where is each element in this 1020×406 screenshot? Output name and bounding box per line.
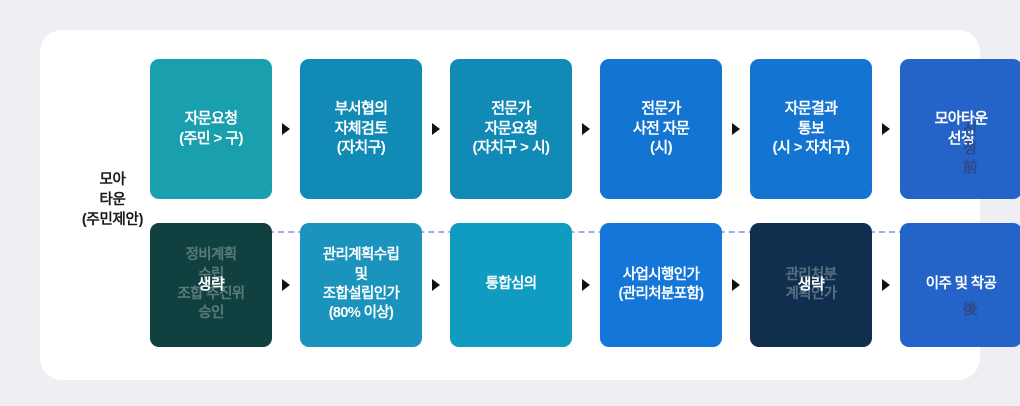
node-expert-advice-request-label-line: 전문가	[473, 99, 550, 119]
stage-label-after-line-1: 後	[963, 301, 978, 318]
flow-arrow-icon	[872, 278, 900, 292]
node-mgmt-disposal-plan-label-line: 계획인가	[786, 285, 837, 304]
flow-arrow-icon	[572, 278, 600, 292]
node-advice-result-notice[interactable]: 자문결과통보(시 > 자치구)	[750, 59, 872, 199]
node-advice-result-notice-label: 자문결과통보(시 > 자치구)	[769, 99, 854, 159]
flow-arrow-icon	[872, 122, 900, 136]
node-advice-request-label-line: (주민 > 구)	[179, 129, 243, 149]
node-expert-advice-request-label-line: (자치구 > 시)	[473, 138, 550, 158]
node-mgmt-plan-union-approval-label-line: 관리계획수립	[323, 246, 399, 265]
node-expert-advice-request[interactable]: 전문가자문요청(자치구 > 시)	[450, 59, 572, 199]
node-expert-preadvice-label-line: 전문가	[633, 99, 689, 119]
stage-label-after: 後	[955, 298, 985, 319]
node-maintenance-plan-label-line: 조합 추진위	[177, 285, 244, 304]
stage-label-before-line-1: 선	[955, 120, 985, 139]
node-advice-request[interactable]: 자문요청(주민 > 구)	[150, 59, 272, 199]
node-expert-preadvice[interactable]: 전문가사전 자문(시)	[600, 59, 722, 199]
node-mgmt-disposal-plan-label-line: 관리처분	[786, 266, 837, 285]
node-maintenance-plan-label: 정비계획수립조합 추진위승인	[173, 246, 248, 323]
node-expert-preadvice-label-line: 사전 자문	[633, 119, 689, 139]
node-project-approval-label: 사업시행인가(관리처분포함)	[615, 266, 708, 305]
node-maintenance-plan-label-line: 정비계획	[177, 246, 244, 265]
node-advice-request-label-line: 자문요청	[179, 109, 243, 129]
diagram-card: 모아 타운 (주민제안) 자문요청(주민 > 구)부서협의자체검토(자치구)전문…	[40, 30, 980, 380]
flow-arrow-icon	[422, 122, 450, 136]
stage-label-before: 선 정 前	[955, 120, 985, 178]
flow-arrow-icon	[572, 122, 600, 136]
stage-label-before-line-3: 前	[955, 158, 985, 177]
node-advice-request-label: 자문요청(주민 > 구)	[175, 109, 247, 149]
node-mgmt-plan-union-approval[interactable]: 관리계획수립및조합설립인가(80% 이상)	[300, 223, 422, 347]
node-dept-review-label-line: (자치구)	[335, 138, 388, 158]
node-maintenance-plan-label-line: 승인	[177, 304, 244, 323]
node-mgmt-plan-union-approval-label-line: (80% 이상)	[323, 304, 399, 323]
node-mgmt-disposal-plan[interactable]: 관리처분계획인가생략	[750, 223, 872, 347]
node-mgmt-plan-union-approval-label: 관리계획수립및조합설립인가(80% 이상)	[319, 246, 403, 323]
node-project-approval-label-line: 사업시행인가	[619, 266, 704, 285]
node-advice-result-notice-label-line: (시 > 자치구)	[773, 138, 850, 158]
node-dept-review-label: 부서협의자체검토(자치구)	[331, 99, 392, 159]
node-dept-review-label-line: 부서협의	[335, 99, 388, 119]
node-expert-advice-request-label: 전문가자문요청(자치구 > 시)	[469, 99, 554, 159]
flow-arrow-icon	[722, 122, 750, 136]
node-maintenance-plan-label-line: 수립	[177, 266, 244, 285]
node-relocation-construction[interactable]: 이주 및 착공	[900, 223, 1020, 347]
node-mgmt-plan-union-approval-label-line: 및	[323, 266, 399, 285]
node-expert-preadvice-label: 전문가사전 자문(시)	[629, 99, 693, 159]
node-mgmt-disposal-plan-label: 관리처분계획인가	[782, 266, 841, 305]
flow-row-before-selection: 자문요청(주민 > 구)부서협의자체검토(자치구)전문가자문요청(자치구 > 시…	[150, 56, 1020, 201]
diagram-root: 모아 타운 (주민제안) 자문요청(주민 > 구)부서협의자체검토(자치구)전문…	[0, 0, 1020, 406]
node-mgmt-plan-union-approval-label-line: 조합설립인가	[323, 285, 399, 304]
node-advice-result-notice-label-line: 통보	[773, 119, 850, 139]
flow-arrow-icon	[422, 278, 450, 292]
node-integrated-review[interactable]: 통합심의	[450, 223, 572, 347]
node-dept-review[interactable]: 부서협의자체검토(자치구)	[300, 59, 422, 199]
node-dept-review-label-line: 자체검토	[335, 119, 388, 139]
node-relocation-construction-label-line: 이주 및 착공	[926, 275, 997, 294]
node-advice-result-notice-label-line: 자문결과	[773, 99, 850, 119]
node-expert-advice-request-label-line: 자문요청	[473, 119, 550, 139]
stage-label-before-line-2: 정	[955, 139, 985, 158]
node-project-approval[interactable]: 사업시행인가(관리처분포함)	[600, 223, 722, 347]
node-expert-preadvice-label-line: (시)	[633, 138, 689, 158]
flow-arrow-icon	[722, 278, 750, 292]
flow-arrow-icon	[272, 278, 300, 292]
node-project-approval-label-line: (관리처분포함)	[619, 285, 704, 304]
node-integrated-review-label: 통합심의	[482, 275, 541, 294]
flow-arrow-icon	[272, 122, 300, 136]
node-relocation-construction-label: 이주 및 착공	[922, 275, 1001, 294]
flow-row-after-selection: 정비계획수립조합 추진위승인생략관리계획수립및조합설립인가(80% 이상)통합심…	[150, 220, 1020, 350]
node-maintenance-plan[interactable]: 정비계획수립조합 추진위승인생략	[150, 223, 272, 347]
node-integrated-review-label-line: 통합심의	[486, 275, 537, 294]
